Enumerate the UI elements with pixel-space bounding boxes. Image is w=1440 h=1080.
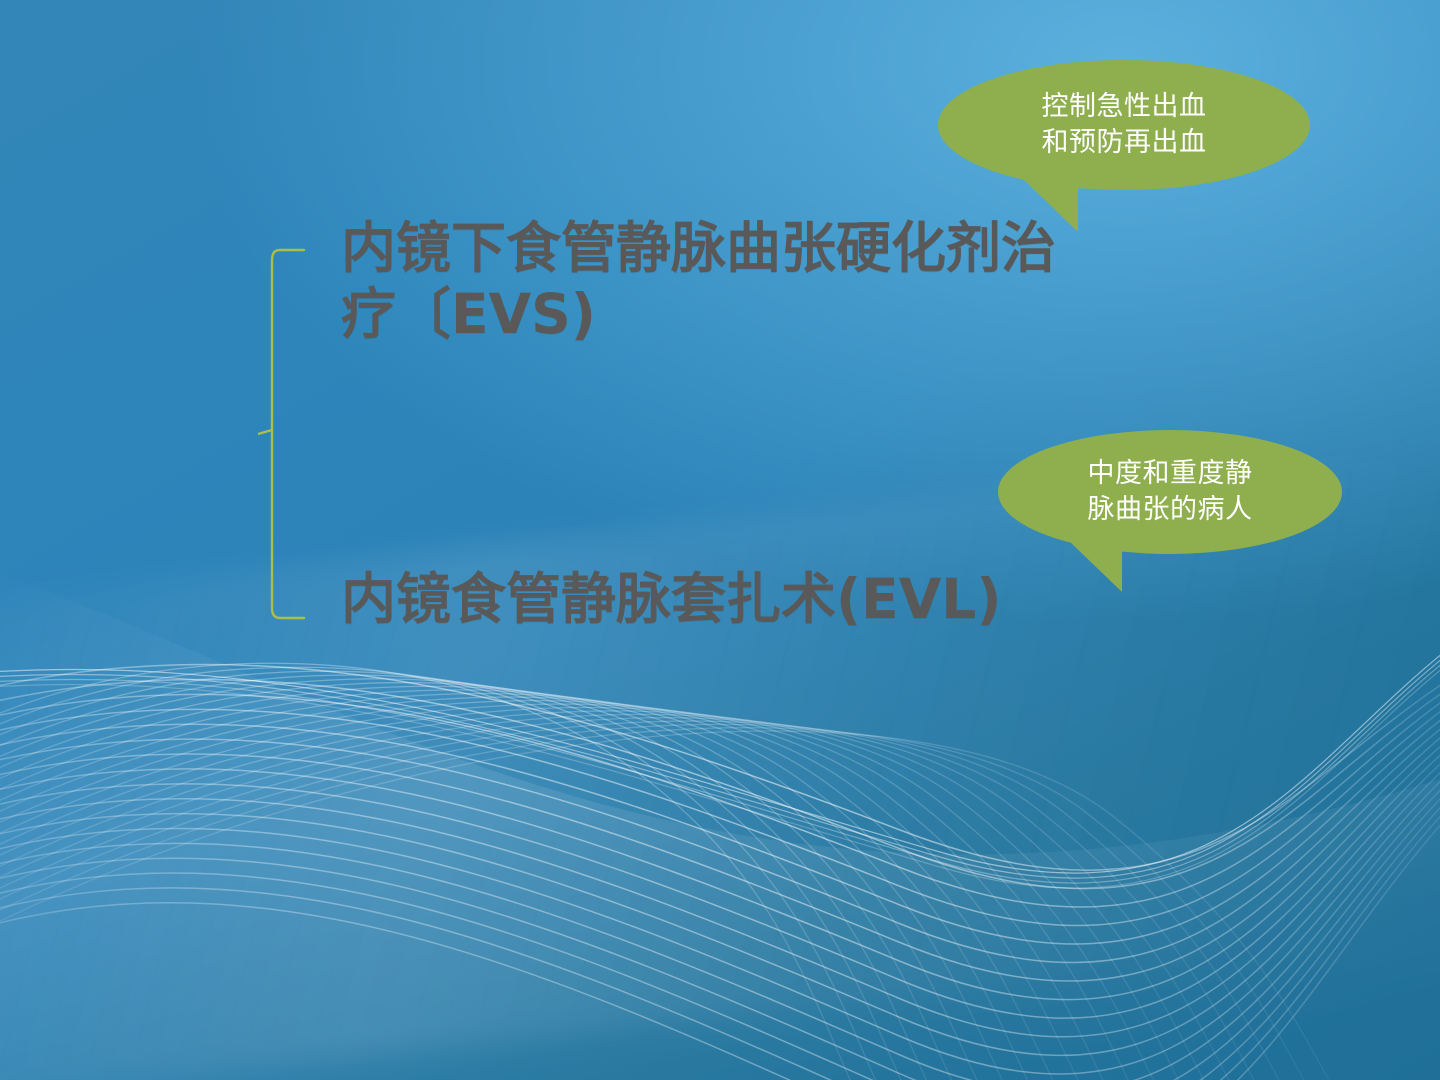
slide-canvas: 内镜下食管静脉曲张硬化剂治疗〔EVS) 内镜食管静脉套扎术(EVL) 控制急性出… xyxy=(0,0,1440,1080)
callout-varices-patients: 中度和重度静 脉曲张的病人 xyxy=(998,430,1342,554)
callout-acute-text: 控制急性出血 和预防再出血 xyxy=(1016,89,1233,162)
callout-acute-bubble: 控制急性出血 和预防再出血 xyxy=(938,60,1310,190)
bracket-grouping xyxy=(258,248,318,620)
callout-varices-text: 中度和重度静 脉曲张的病人 xyxy=(1062,456,1279,529)
wave-sheen-band xyxy=(0,560,1440,1080)
callout-varices-bubble: 中度和重度静 脉曲张的病人 xyxy=(998,430,1342,554)
heading-evs: 内镜下食管静脉曲张硬化剂治疗〔EVS) xyxy=(341,215,1081,347)
callout-acute-bleeding: 控制急性出血 和预防再出血 xyxy=(938,60,1310,190)
bracket-middle-tick xyxy=(258,430,272,434)
heading-evl: 内镜食管静脉套扎术(EVL) xyxy=(341,566,1121,632)
bracket-outline xyxy=(272,250,304,618)
